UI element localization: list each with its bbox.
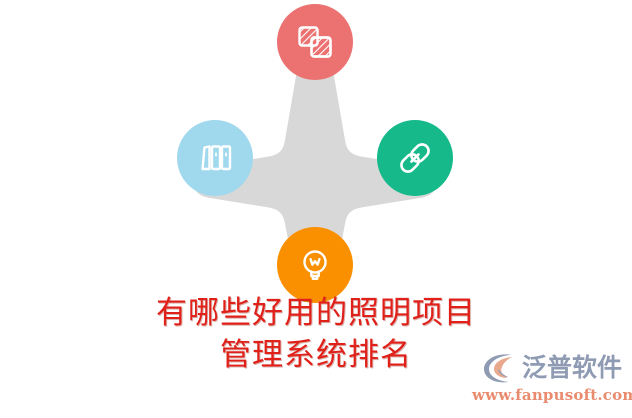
node-top-documents[interactable] — [277, 4, 353, 80]
screenshot-canvas: 有哪些好用的照明项目 管理系统排名 泛普软件 www.fanpusoft.com — [0, 0, 632, 418]
node-left-archive[interactable] — [177, 120, 253, 196]
watermark-url-text: www.fanpusoft.com — [472, 386, 622, 404]
books-archive-icon — [195, 138, 235, 178]
watermark: 泛普软件 www.fanpusoft.com — [472, 348, 622, 410]
overlapping-striped-squares-icon — [295, 22, 335, 62]
four-node-star-diagram — [0, 0, 632, 330]
node-right-link[interactable] — [377, 120, 453, 196]
chain-link-icon — [395, 138, 435, 178]
watermark-brand-text: 泛普软件 — [522, 354, 622, 382]
fanpusoft-logo-icon — [482, 351, 520, 385]
watermark-brand-row: 泛普软件 — [472, 348, 622, 388]
lightbulb-icon — [295, 245, 335, 285]
page-title-line-1: 有哪些好用的照明项目 — [0, 292, 632, 334]
